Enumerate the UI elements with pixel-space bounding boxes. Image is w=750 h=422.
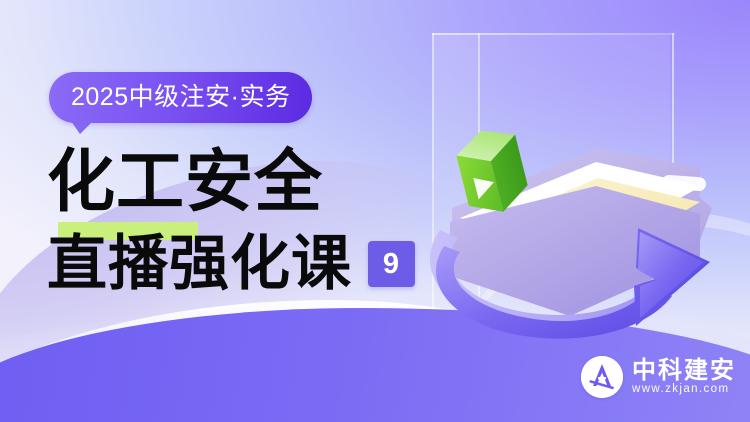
zkjan-logo-icon: [581, 356, 623, 398]
episode-number-badge: 9: [368, 241, 415, 287]
title-line-2: 直播强化课: [47, 234, 352, 294]
brand-text: 中科建安 www.zkjan.com: [632, 358, 736, 396]
badge-pointer-tail: [71, 121, 93, 134]
title-block: 化工安全 直播强化课 9: [47, 148, 415, 294]
course-badge: 2025中级注安·实务: [49, 72, 312, 123]
course-illustration: [400, 90, 750, 350]
course-banner: 2025中级注安·实务 化工安全 直播强化课 9 中科建安 www.zkjan.…: [0, 0, 750, 422]
title-line-1: 化工安全: [47, 148, 415, 216]
course-badge-pill: 2025中级注安·实务: [49, 72, 312, 123]
brand-name: 中科建安: [632, 358, 736, 382]
panel-top-rule: [432, 33, 675, 35]
course-badge-label: 2025中级注安·实务: [71, 85, 290, 110]
title-line-2-row: 直播强化课 9: [47, 234, 415, 294]
brand-url: www.zkjan.com: [632, 384, 736, 396]
brand-logo: 中科建安 www.zkjan.com: [581, 356, 736, 398]
